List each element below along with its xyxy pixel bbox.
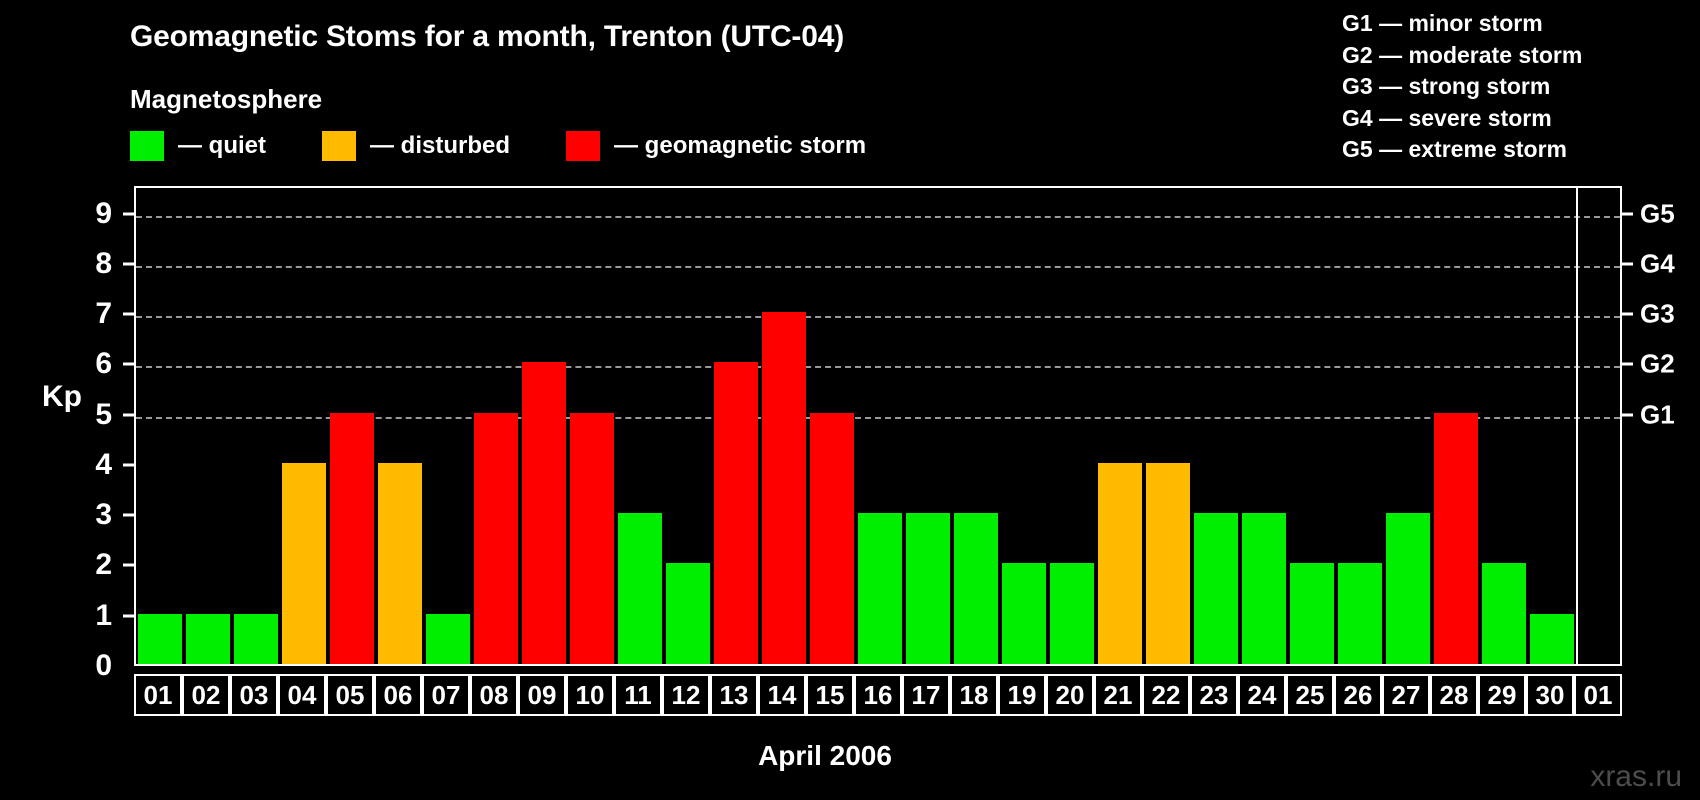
y-tick-mark-8	[123, 262, 134, 265]
y-tick-label-2: 2	[95, 548, 112, 582]
bar-slot-08[interactable]	[472, 188, 520, 664]
bar-02-kp-1[interactable]	[186, 614, 230, 664]
y-axis: 0123456789	[0, 186, 134, 666]
legend-swatch-disturbed-icon	[322, 131, 356, 161]
bar-slot-22[interactable]	[1144, 188, 1192, 664]
bar-slot-05[interactable]	[328, 188, 376, 664]
day-label-30[interactable]: 01	[1574, 674, 1622, 716]
g-tick-mark-G2	[1622, 363, 1633, 366]
g-tick-label-G1: G1	[1640, 399, 1675, 430]
bar-14-kp-7[interactable]	[762, 312, 806, 664]
legend-label-storm: — geomagnetic storm	[614, 132, 866, 160]
day-label-17[interactable]: 18	[950, 674, 998, 716]
y-tick-label-6: 6	[95, 347, 112, 381]
g-tick-label-G4: G4	[1640, 248, 1675, 279]
bar-01-kp-1[interactable]	[138, 614, 182, 664]
bar-03-kp-1[interactable]	[234, 614, 278, 664]
storm-scale-legend: G1 — minor storm G2 — moderate storm G3 …	[1212, 8, 1682, 166]
day-label-6[interactable]: 07	[422, 674, 470, 716]
x-axis-day-labels: 0102030405060708091011121314151617181920…	[134, 674, 1622, 716]
bar-slot-17[interactable]	[904, 188, 952, 664]
y-tick-label-7: 7	[95, 297, 112, 331]
bar-10-kp-5[interactable]	[570, 413, 614, 664]
day-label-29[interactable]: 30	[1526, 674, 1574, 716]
legend-item-quiet: — quiet	[130, 131, 266, 161]
y-tick-label-1: 1	[95, 599, 112, 633]
storm-scale-row-g4: G4 — severe storm	[1212, 103, 1682, 135]
storm-scale-row-g5: G5 — extreme storm	[1212, 134, 1682, 166]
bar-05-kp-5[interactable]	[330, 413, 374, 664]
legend-item-disturbed: — disturbed	[322, 131, 510, 161]
bar-30-kp-1[interactable]	[1530, 614, 1574, 664]
bar-slot-24[interactable]	[1240, 188, 1288, 664]
day-label-8[interactable]: 09	[518, 674, 566, 716]
bar-slot-10[interactable]	[568, 188, 616, 664]
day-label-19[interactable]: 20	[1046, 674, 1094, 716]
bar-slot-14[interactable]	[760, 188, 808, 664]
bar-slot-29[interactable]	[1480, 188, 1528, 664]
legend-label-quiet: — quiet	[178, 132, 266, 160]
day-label-9[interactable]: 10	[566, 674, 614, 716]
bar-slot-03[interactable]	[232, 188, 280, 664]
day-label-13[interactable]: 14	[758, 674, 806, 716]
day-label-18[interactable]: 19	[998, 674, 1046, 716]
bar-17-kp-3[interactable]	[906, 513, 950, 664]
y-axis-title: Kp	[42, 380, 82, 414]
bar-23-kp-3[interactable]	[1194, 513, 1238, 664]
bar-slot-23[interactable]	[1192, 188, 1240, 664]
bar-13-kp-6[interactable]	[714, 362, 758, 664]
bar-08-kp-5[interactable]	[474, 413, 518, 664]
g-tick-label-G2: G2	[1640, 349, 1675, 380]
day-label-24[interactable]: 25	[1286, 674, 1334, 716]
bar-slot-15[interactable]	[808, 188, 856, 664]
bar-06-kp-4[interactable]	[378, 463, 422, 664]
day-label-14[interactable]: 15	[806, 674, 854, 716]
bar-slot-28[interactable]	[1432, 188, 1480, 664]
watermark: xras.ru	[1590, 760, 1682, 794]
bar-slot-13[interactable]	[712, 188, 760, 664]
legend: — quiet — disturbed — geomagnetic storm	[130, 130, 866, 162]
bar-20-kp-2[interactable]	[1050, 563, 1094, 664]
day-label-3[interactable]: 04	[278, 674, 326, 716]
month-separator-line	[1576, 188, 1578, 664]
day-label-12[interactable]: 13	[710, 674, 758, 716]
y-tick-label-4: 4	[95, 448, 112, 482]
bars	[136, 188, 1620, 664]
y-tick-mark-4	[123, 463, 134, 466]
storm-scale-row-g3: G3 — strong storm	[1212, 71, 1682, 103]
bar-04-kp-4[interactable]	[282, 463, 326, 664]
g-tick-mark-G4	[1622, 262, 1633, 265]
bar-slot-20[interactable]	[1048, 188, 1096, 664]
day-label-28[interactable]: 29	[1478, 674, 1526, 716]
bar-slot-09[interactable]	[520, 188, 568, 664]
legend-item-storm: — geomagnetic storm	[566, 131, 866, 161]
day-label-27[interactable]: 28	[1430, 674, 1478, 716]
bar-09-kp-6[interactable]	[522, 362, 566, 664]
bar-slot-19[interactable]	[1000, 188, 1048, 664]
g-tick-label-G3: G3	[1640, 299, 1675, 330]
bar-27-kp-3[interactable]	[1386, 513, 1430, 664]
legend-swatch-storm-icon	[566, 131, 600, 161]
day-label-1[interactable]: 02	[182, 674, 230, 716]
day-label-5[interactable]: 06	[374, 674, 422, 716]
bar-16-kp-3[interactable]	[858, 513, 902, 664]
bar-slot-01[interactable]	[136, 188, 184, 664]
x-axis-title-text: April 2006	[758, 740, 892, 772]
bar-slot-30[interactable]	[1528, 188, 1576, 664]
bar-12-kp-2[interactable]	[666, 563, 710, 664]
g-tick-mark-G3	[1622, 313, 1633, 316]
bar-slot-02[interactable]	[184, 188, 232, 664]
bar-26-kp-2[interactable]	[1338, 563, 1382, 664]
bar-slot-18[interactable]	[952, 188, 1000, 664]
y-tick-mark-5	[123, 413, 134, 416]
bar-07-kp-1[interactable]	[426, 614, 470, 664]
day-label-15[interactable]: 16	[854, 674, 902, 716]
y-tick-mark-7	[123, 313, 134, 316]
y-tick-label-0: 0	[95, 649, 112, 683]
day-label-0[interactable]: 01	[134, 674, 182, 716]
day-label-11[interactable]: 12	[662, 674, 710, 716]
bar-19-kp-2[interactable]	[1002, 563, 1046, 664]
bar-slot-07[interactable]	[424, 188, 472, 664]
storm-scale-row-g1: G1 — minor storm	[1212, 8, 1682, 40]
g-scale-axis: G1G2G3G4G5	[1622, 186, 1700, 666]
g-tick-mark-G5	[1622, 212, 1633, 215]
bar-25-kp-2[interactable]	[1290, 563, 1334, 664]
bar-slot-16[interactable]	[856, 188, 904, 664]
bar-slot-01[interactable]	[1576, 188, 1624, 664]
y-tick-label-8: 8	[95, 247, 112, 281]
y-tick-mark-6	[123, 363, 134, 366]
bar-slot-12[interactable]	[664, 188, 712, 664]
storm-scale-row-g2: G2 — moderate storm	[1212, 40, 1682, 72]
y-tick-mark-9	[123, 212, 134, 215]
bar-slot-11[interactable]	[616, 188, 664, 664]
day-label-16[interactable]: 17	[902, 674, 950, 716]
y-tick-mark-3	[123, 514, 134, 517]
y-tick-label-9: 9	[95, 197, 112, 231]
bar-11-kp-3[interactable]	[618, 513, 662, 664]
day-label-20[interactable]: 21	[1094, 674, 1142, 716]
bar-15-kp-5[interactable]	[810, 413, 854, 664]
day-label-22[interactable]: 23	[1190, 674, 1238, 716]
day-label-2[interactable]: 03	[230, 674, 278, 716]
bar-slot-04[interactable]	[280, 188, 328, 664]
bar-28-kp-5[interactable]	[1434, 413, 1478, 664]
plot-inner	[136, 188, 1620, 664]
g-tick-label-G5: G5	[1640, 198, 1675, 229]
y-tick-mark-2	[123, 564, 134, 567]
legend-swatch-quiet-icon	[130, 131, 164, 161]
x-axis-title: April 2006	[0, 740, 1700, 772]
day-label-26[interactable]: 27	[1382, 674, 1430, 716]
bar-21-kp-4[interactable]	[1098, 463, 1142, 664]
day-label-23[interactable]: 24	[1238, 674, 1286, 716]
page-title: Geomagnetic Stoms for a month, Trenton (…	[130, 20, 844, 54]
g-tick-mark-G1	[1622, 413, 1633, 416]
y-tick-mark-1	[123, 614, 134, 617]
day-label-7[interactable]: 08	[470, 674, 518, 716]
bar-slot-21[interactable]	[1096, 188, 1144, 664]
bar-slot-27[interactable]	[1384, 188, 1432, 664]
legend-label-disturbed: — disturbed	[370, 132, 510, 160]
legend-heading: Magnetosphere	[130, 84, 322, 115]
bar-slot-26[interactable]	[1336, 188, 1384, 664]
bar-22-kp-4[interactable]	[1146, 463, 1190, 664]
day-label-25[interactable]: 26	[1334, 674, 1382, 716]
day-label-10[interactable]: 11	[614, 674, 662, 716]
bar-slot-25[interactable]	[1288, 188, 1336, 664]
bar-18-kp-3[interactable]	[954, 513, 998, 664]
plot-area	[134, 186, 1622, 666]
y-tick-label-3: 3	[95, 498, 112, 532]
bar-29-kp-2[interactable]	[1482, 563, 1526, 664]
y-tick-label-5: 5	[95, 398, 112, 432]
day-label-21[interactable]: 22	[1142, 674, 1190, 716]
bar-slot-06[interactable]	[376, 188, 424, 664]
day-label-4[interactable]: 05	[326, 674, 374, 716]
bar-24-kp-3[interactable]	[1242, 513, 1286, 664]
